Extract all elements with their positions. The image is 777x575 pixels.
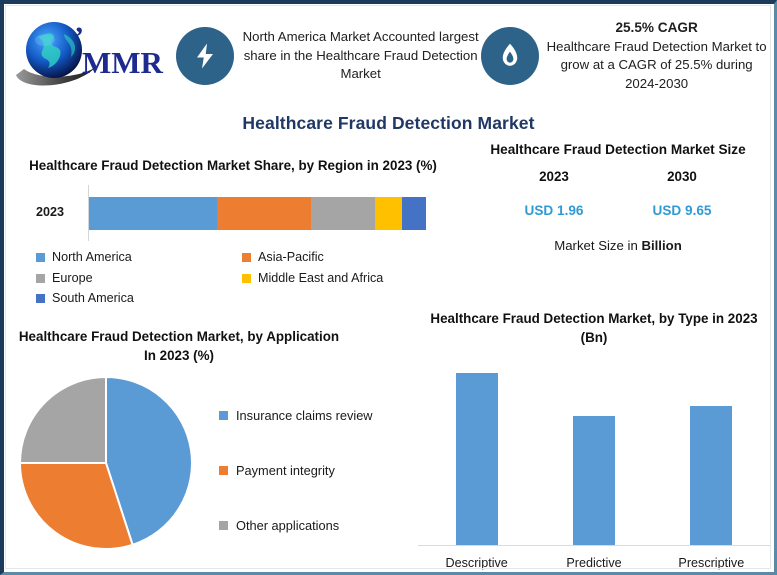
application-share-panel: Healthcare Fraud Detection Market, by Ap… bbox=[14, 327, 414, 554]
market-size-years: 2023 USD 1.96 2030 USD 9.65 bbox=[468, 169, 768, 218]
legend-swatch bbox=[242, 274, 251, 283]
svg-text:MMR: MMR bbox=[82, 45, 164, 80]
type-bar-slot bbox=[653, 350, 770, 545]
region-legend-item: Middle East and Africa bbox=[242, 268, 448, 288]
header-highlight-cagr: 25.5% CAGR Healthcare Fraud Detection Ma… bbox=[481, 6, 768, 106]
cagr-value: 25.5% CAGR bbox=[545, 18, 768, 37]
application-legend-label: Payment integrity bbox=[236, 463, 335, 478]
region-legend-item: South America bbox=[36, 288, 242, 308]
region-legend-item: Asia-Pacific bbox=[242, 247, 448, 267]
page-title: Healthcare Fraud Detection Market bbox=[0, 113, 777, 134]
type-bar-label-line: Descriptive bbox=[418, 555, 535, 572]
region-category-label: 2023 bbox=[36, 205, 64, 219]
market-size-unit-note: Market Size in Billion bbox=[468, 238, 768, 253]
region-legend-item: Europe bbox=[36, 268, 242, 288]
region-legend-label: Asia-Pacific bbox=[258, 247, 324, 267]
type-bar-label-line: Prescriptive bbox=[653, 555, 770, 572]
region-segment bbox=[89, 197, 217, 230]
mmr-logo: ’ MMR bbox=[8, 17, 176, 95]
region-share-panel: Healthcare Fraud Detection Market Share,… bbox=[18, 156, 448, 309]
application-legend-item: Other applications bbox=[219, 498, 414, 553]
region-legend-label: Europe bbox=[52, 268, 93, 288]
legend-swatch bbox=[36, 274, 45, 283]
legend-swatch bbox=[36, 253, 45, 262]
market-size-panel: Healthcare Fraud Detection Market Size 2… bbox=[468, 140, 768, 253]
type-chart-title: Healthcare Fraud Detection Market, by Ty… bbox=[418, 309, 770, 348]
region-stack bbox=[89, 197, 426, 230]
legend-swatch bbox=[219, 411, 228, 420]
region-segment bbox=[311, 197, 375, 230]
type-bar bbox=[690, 406, 732, 545]
header-region-text: North America Market Accounted largest s… bbox=[240, 28, 481, 84]
market-size-value-end: USD 9.65 bbox=[618, 203, 746, 218]
region-legend-label: Middle East and Africa bbox=[258, 268, 383, 288]
header-highlight-region: North America Market Accounted largest s… bbox=[176, 6, 481, 106]
market-size-unit-prefix: Market Size in bbox=[554, 238, 641, 253]
application-pie-chart bbox=[16, 374, 212, 552]
type-bar-slot bbox=[418, 350, 535, 545]
type-axis-line bbox=[418, 545, 770, 546]
type-bar-label-line: Predictive bbox=[535, 555, 652, 572]
region-stacked-bar-chart: 2023 bbox=[18, 185, 448, 241]
application-legend-item: Insurance claims review bbox=[219, 388, 414, 443]
legend-swatch bbox=[242, 253, 251, 262]
header-cagr-text: 25.5% CAGR Healthcare Fraud Detection Ma… bbox=[545, 18, 768, 94]
type-share-panel: Healthcare Fraud Detection Market, by Ty… bbox=[418, 309, 770, 575]
market-size-value-start: USD 1.96 bbox=[490, 203, 618, 218]
market-size-unit: Billion bbox=[641, 238, 681, 253]
application-chart-title: Healthcare Fraud Detection Market, by Ap… bbox=[14, 327, 344, 366]
market-size-col-end: 2030 USD 9.65 bbox=[618, 169, 746, 218]
type-bar-label: DescriptiveAnalytics bbox=[418, 555, 535, 575]
application-pie-body: Insurance claims reviewPayment integrity… bbox=[14, 374, 414, 554]
type-bars bbox=[418, 350, 770, 545]
type-bar bbox=[456, 373, 498, 545]
globe-icon: ’ MMR bbox=[8, 17, 176, 95]
type-bar-slot bbox=[535, 350, 652, 545]
application-legend-label: Insurance claims review bbox=[236, 408, 373, 423]
market-size-title: Healthcare Fraud Detection Market Size bbox=[468, 140, 768, 160]
legend-swatch bbox=[219, 466, 228, 475]
legend-swatch bbox=[36, 294, 45, 303]
region-chart-title: Healthcare Fraud Detection Market Share,… bbox=[18, 156, 448, 175]
pie-slice bbox=[20, 377, 106, 463]
market-size-col-start: 2023 USD 1.96 bbox=[490, 169, 618, 218]
region-legend-label: North America bbox=[52, 247, 132, 267]
lightning-bolt-icon bbox=[176, 27, 234, 85]
market-size-year-start: 2023 bbox=[490, 169, 618, 184]
header-bar: ’ MMR North America Market Accounted lar… bbox=[8, 6, 768, 106]
type-bar bbox=[573, 416, 615, 545]
cagr-description: Healthcare Fraud Detection Market to gro… bbox=[547, 39, 767, 91]
type-bar-label: PredictiveAnalytics bbox=[535, 555, 652, 575]
type-axis-labels: DescriptiveAnalyticsPredictiveAnalyticsP… bbox=[418, 555, 770, 575]
type-bar-label: PrescriptiveAnalytics bbox=[653, 555, 770, 575]
region-legend-item: North America bbox=[36, 247, 242, 267]
region-segment bbox=[217, 197, 311, 230]
market-size-year-end: 2030 bbox=[618, 169, 746, 184]
application-legend-label: Other applications bbox=[236, 518, 339, 533]
region-segment bbox=[402, 197, 426, 230]
type-bar-chart bbox=[418, 350, 770, 546]
region-segment bbox=[375, 197, 402, 230]
region-legend-label: South America bbox=[52, 288, 134, 308]
flame-icon bbox=[481, 27, 539, 85]
legend-swatch bbox=[219, 521, 228, 530]
application-legend-item: Payment integrity bbox=[219, 443, 414, 498]
application-legend: Insurance claims reviewPayment integrity… bbox=[219, 388, 414, 553]
region-legend: North AmericaAsia-PacificEuropeMiddle Ea… bbox=[18, 247, 448, 308]
infographic-root: ’ MMR North America Market Accounted lar… bbox=[0, 0, 777, 575]
